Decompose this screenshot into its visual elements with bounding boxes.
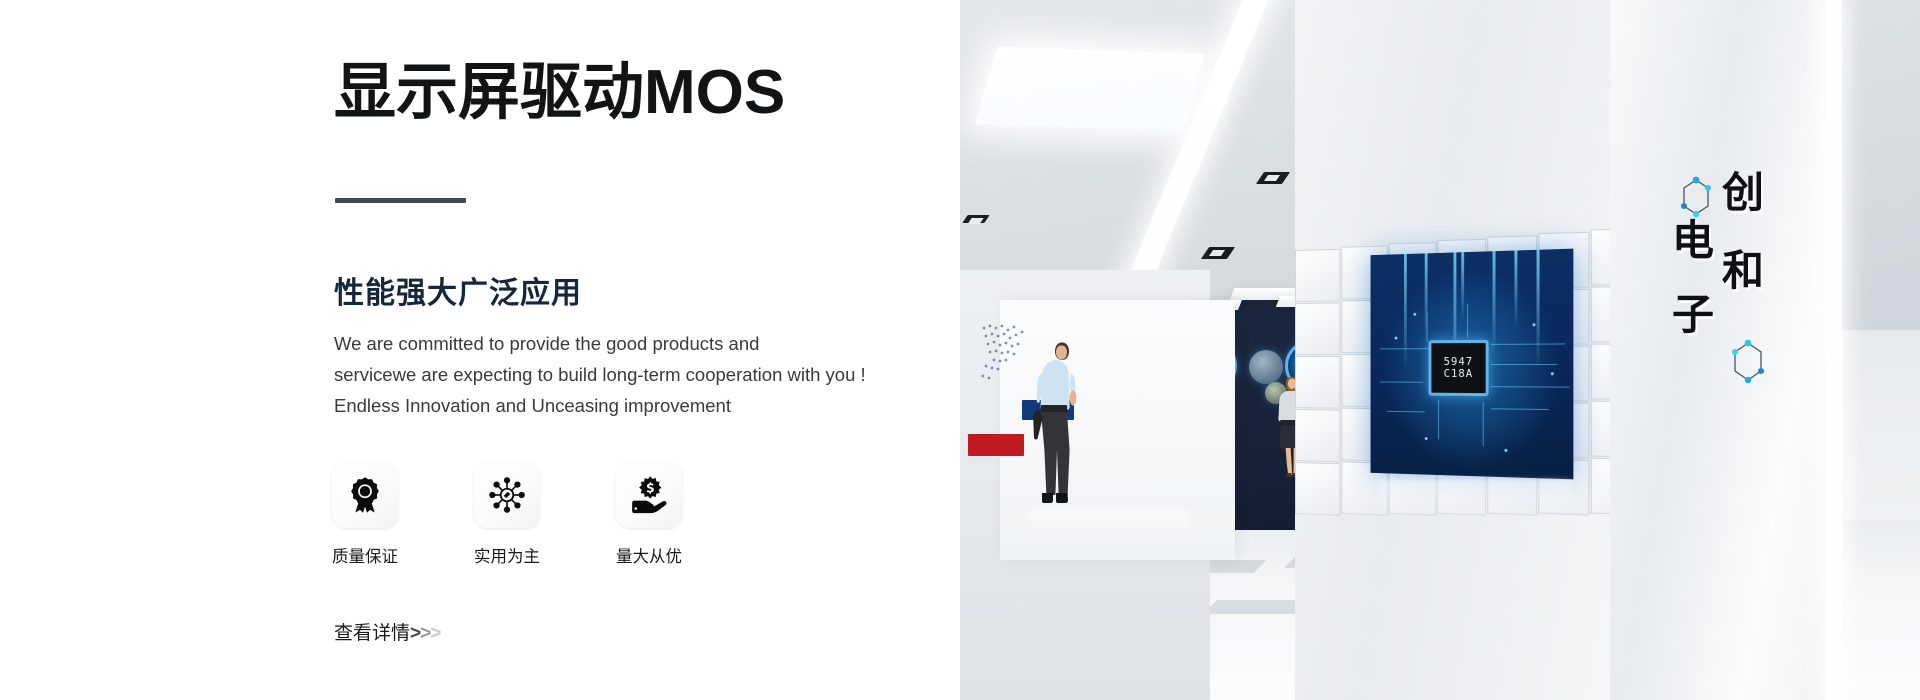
floor-reflection: [1380, 480, 1570, 516]
feature-label: 量大从优: [616, 543, 682, 567]
title-divider: [335, 198, 466, 203]
hero-banner: 显示屏驱动MOS 性能强大广泛应用 We are committed to pr…: [0, 0, 1920, 700]
chip-label-line-2: C18A: [1444, 368, 1474, 380]
feature-list: 质量保证: [332, 462, 703, 567]
wall-sign-char: 和: [1722, 250, 1764, 292]
feature-item-practical[interactable]: 实用为主: [474, 462, 561, 567]
description-line-1: We are committed to provide the good pro…: [334, 328, 894, 359]
hand-money-icon: [629, 475, 669, 515]
company-wall-sign: 创 和 电 子: [1660, 172, 1800, 392]
skylight-panel: [975, 46, 1205, 131]
feature-item-quality[interactable]: 质量保证: [332, 462, 419, 567]
chevron-right-icon-2: >: [420, 623, 430, 645]
person-businessman: [1028, 335, 1094, 505]
description-line-2: servicewe are expecting to build long-te…: [334, 359, 894, 390]
feature-label: 质量保证: [332, 543, 398, 567]
chevron-right-icon-1: >: [410, 623, 420, 645]
pillar-light-edge: [1826, 0, 1842, 700]
feature-icon-tile: [616, 462, 682, 528]
view-details-label: 查看详情: [334, 618, 410, 645]
hexagon-molecule-icon: [1728, 336, 1768, 394]
chip-graphic: 5947 C18A: [1429, 340, 1489, 396]
hero-description: We are committed to provide the good pro…: [334, 328, 894, 421]
feature-icon-tile: [332, 462, 398, 528]
hero-subtitle: 性能强大广泛应用: [334, 268, 582, 312]
wall-sign-char: 子: [1672, 294, 1714, 336]
floor-reflection: [1030, 510, 1190, 540]
wall-sign-red: [968, 434, 1024, 456]
hexagon-molecule-icon: [1678, 174, 1714, 230]
hero-text-panel: 显示屏驱动MOS 性能强大广泛应用 We are committed to pr…: [0, 0, 960, 700]
award-ribbon-icon: [345, 475, 385, 515]
feature-label: 实用为主: [474, 543, 540, 567]
blue-circuit-display-screen: 5947 C18A: [1371, 249, 1574, 480]
network-hub-icon: [487, 475, 527, 515]
page-title: 显示屏驱动MOS: [334, 62, 785, 124]
feature-icon-tile: [474, 462, 540, 528]
view-details-link[interactable]: 查看详情 > > >: [334, 618, 440, 645]
description-line-3: Endless Innovation and Unceasing improve…: [334, 390, 894, 421]
showroom-photo: 5947 C18A 创 和 电 子: [960, 0, 1920, 700]
wall-sign-char: 创: [1722, 172, 1764, 214]
chevron-right-icon-3: >: [430, 623, 440, 645]
feature-item-bulk-discount[interactable]: 量大从优: [616, 462, 703, 567]
